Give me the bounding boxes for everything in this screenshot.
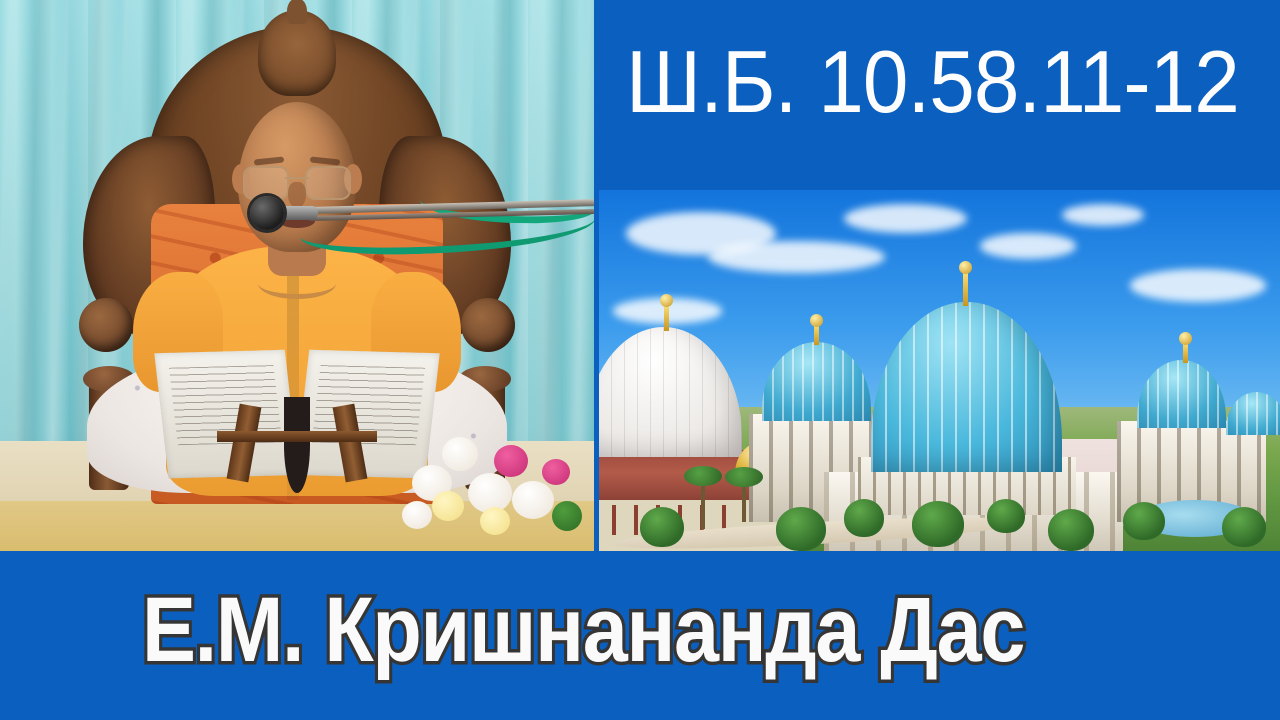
side-dome-left: [762, 342, 871, 421]
palm-tree: [701, 479, 705, 529]
eyebrow-left: [254, 156, 284, 165]
tree: [1222, 507, 1266, 547]
open-scripture-book: [169, 349, 425, 487]
presenter-name: Е.М. Кришнананда Дас: [142, 584, 1024, 676]
tree: [1048, 509, 1094, 551]
microphone-body: [278, 206, 318, 220]
lecturer-photo: [0, 0, 594, 551]
white-dome: [599, 327, 742, 457]
finial-icon: [1183, 341, 1188, 363]
title-banner: Ш.Б. 10.58.11-12: [594, 0, 1280, 190]
glasses-bridge: [285, 177, 309, 179]
throne-crest-ornament: [258, 10, 336, 96]
cloud: [980, 233, 1075, 258]
flower: [480, 507, 510, 535]
tree: [640, 507, 684, 547]
palm-tree: [742, 480, 746, 522]
microphone-icon: [250, 196, 284, 230]
finial-icon: [963, 270, 968, 306]
presenter-banner: Е.М. Кришнананда Дас: [0, 551, 1280, 720]
side-dome-far-right: [1226, 392, 1280, 435]
tree: [987, 499, 1025, 533]
tree: [844, 499, 884, 537]
lens-left: [243, 166, 289, 200]
cloud: [708, 241, 885, 273]
tree: [912, 501, 964, 547]
cloud: [844, 204, 967, 233]
book-stand-leg-left: [227, 404, 262, 483]
main-blue-dome: [871, 302, 1062, 472]
foliage: [552, 501, 582, 531]
flower: [402, 501, 432, 529]
flower: [494, 445, 528, 477]
video-thumbnail: Ш.Б. 10.58.11-12: [0, 0, 1280, 720]
flower-garland: [402, 429, 582, 545]
tree: [776, 507, 826, 551]
cloud: [1130, 269, 1266, 301]
flower: [512, 481, 554, 519]
eyebrow-right: [310, 156, 340, 165]
lens-right: [305, 166, 351, 200]
cloud: [1062, 204, 1144, 226]
side-dome-right: [1137, 360, 1226, 429]
finial-icon: [664, 303, 669, 331]
flower: [432, 491, 464, 521]
page-title: Ш.Б. 10.58.11-12: [626, 38, 1239, 126]
flower: [542, 459, 570, 485]
dome-ribs: [599, 327, 742, 457]
flower: [442, 437, 478, 471]
tree: [1123, 502, 1165, 540]
finial-icon: [814, 323, 819, 345]
book-stand-leg-right: [333, 404, 368, 483]
neck-bead-string: [258, 268, 336, 299]
book-stand-crossbar: [217, 431, 377, 442]
wooden-book-stand: [211, 405, 383, 481]
temple-photo: [599, 190, 1280, 551]
